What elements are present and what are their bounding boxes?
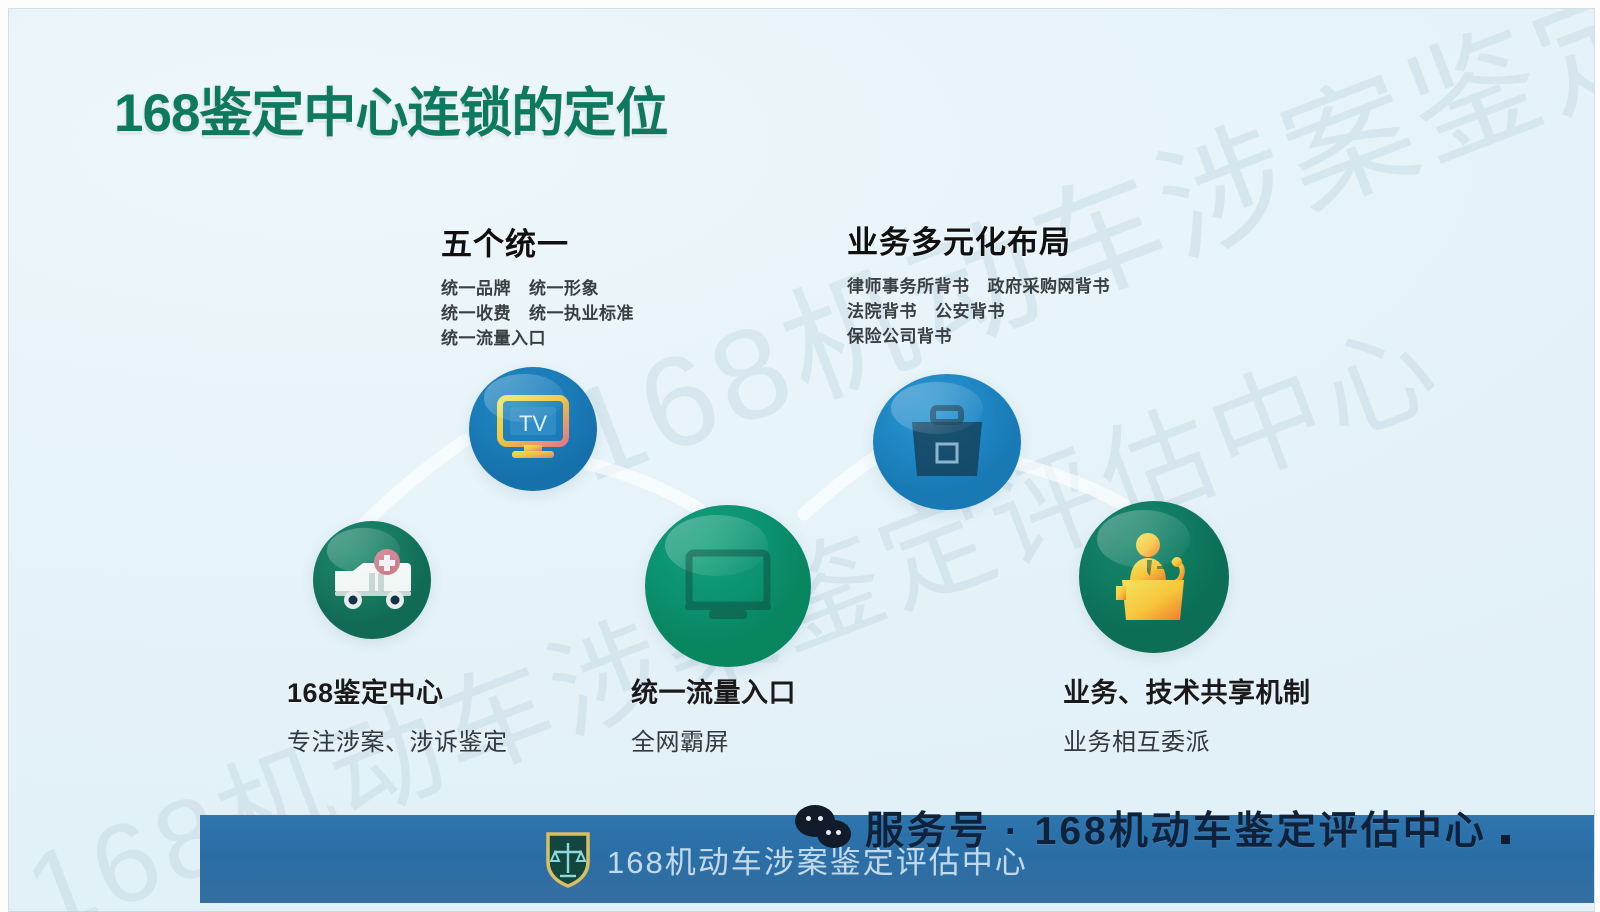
node-circle-tv-blue: TV bbox=[469, 367, 597, 491]
slide-canvas: 168机动车涉案鉴定评估中心 168机动车涉案鉴定评估中心 168鉴定中心连锁的… bbox=[9, 9, 1594, 912]
svg-text:TV: TV bbox=[519, 411, 547, 436]
block-heading: 业务多元化布局 bbox=[847, 217, 1110, 262]
slide-root: 168机动车涉案鉴定评估中心 168机动车涉案鉴定评估中心 168鉴定中心连锁的… bbox=[0, 0, 1600, 912]
label-subtitle: 业务相互委派 bbox=[1063, 722, 1311, 757]
node-circle-briefcase bbox=[873, 374, 1021, 510]
label-title: 统一流量入口 bbox=[631, 671, 796, 710]
block-line: 统一品牌统一形象 bbox=[441, 276, 634, 301]
block-line: 法院背书公安背书 bbox=[847, 299, 1110, 324]
label-subtitle: 专注涉案、涉诉鉴定 bbox=[287, 722, 508, 757]
label-title: 业务、技术共享机制 bbox=[1063, 671, 1311, 710]
label-center-168: 168鉴定中心 专注涉案、涉诉鉴定 bbox=[287, 671, 508, 757]
label-traffic-entry: 统一流量入口 全网霸屏 bbox=[631, 671, 796, 757]
textblock-business-diversification: 业务多元化布局 律师事务所背书政府采购网背书 法院背书公安背书 保险公司背书 bbox=[847, 217, 1110, 349]
line-left: 统一收费 bbox=[441, 304, 511, 323]
briefcase-icon bbox=[906, 404, 988, 480]
footer-brand-text: 168机动车涉案鉴定评估中心 bbox=[607, 837, 1028, 882]
ambulance-icon bbox=[329, 549, 415, 611]
block-line: 统一流量入口 bbox=[441, 326, 634, 351]
monitor-icon bbox=[683, 547, 773, 625]
line-left: 律师事务所背书 bbox=[847, 277, 970, 296]
block-line: 律师事务所背书政府采购网背书 bbox=[847, 274, 1110, 299]
tv-icon: TV bbox=[494, 394, 572, 464]
textblock-five-unifications: 五个统一 统一品牌统一形象 统一收费统一执业标准 统一流量入口 bbox=[441, 219, 634, 351]
scales-shield-icon bbox=[545, 830, 591, 888]
label-share-mechanism: 业务、技术共享机制 业务相互委派 bbox=[1063, 671, 1311, 757]
label-title: 168鉴定中心 bbox=[287, 671, 508, 710]
line-left: 法院背书 bbox=[847, 302, 917, 321]
line-right: 统一执业标准 bbox=[529, 304, 634, 323]
block-line: 保险公司背书 bbox=[847, 324, 1110, 349]
node-circle-monitor-green bbox=[645, 505, 811, 667]
node-circle-podium bbox=[1079, 501, 1229, 653]
page-title: 168鉴定中心连锁的定位 bbox=[114, 71, 667, 147]
line-left: 统一品牌 bbox=[441, 279, 511, 298]
footer-brand-bar: 168机动车涉案鉴定评估中心 bbox=[200, 815, 1600, 903]
line-left: 保险公司背书 bbox=[847, 327, 952, 346]
block-line: 统一收费统一执业标准 bbox=[441, 301, 634, 326]
label-subtitle: 全网霸屏 bbox=[631, 722, 796, 757]
block-heading: 五个统一 bbox=[441, 219, 634, 264]
line-left: 统一流量入口 bbox=[441, 329, 546, 348]
podium-speaker-icon bbox=[1104, 530, 1204, 624]
line-right: 公安背书 bbox=[935, 302, 1005, 321]
line-right: 政府采购网背书 bbox=[988, 277, 1111, 296]
node-circle-ambulance bbox=[313, 521, 431, 639]
line-right: 统一形象 bbox=[529, 279, 599, 298]
